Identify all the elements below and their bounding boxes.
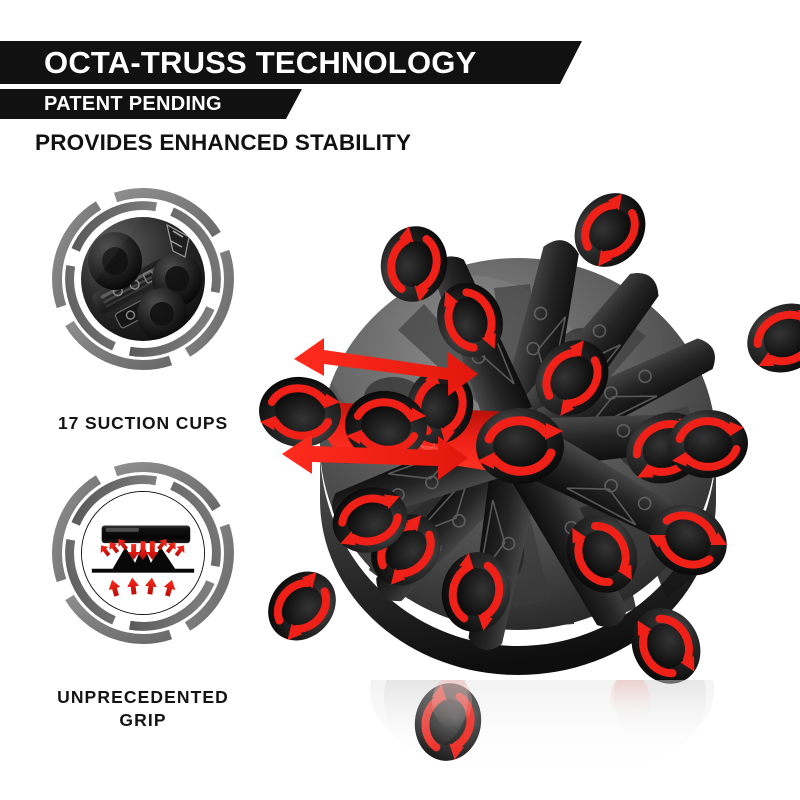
double-headed-arrow-icon — [294, 338, 478, 396]
suction-cup — [409, 678, 488, 766]
suction-cup-closeup-image — [81, 217, 205, 341]
feature-badge: 17 SUCTION CUPS — [18, 188, 268, 410]
feature-label-grip: UNPRECEDENTED GRIP — [18, 686, 268, 732]
suction-cup-closeup-art — [81, 217, 205, 341]
header-title-banner: OCTA-TRUSS TECHNOLOGY — [0, 41, 626, 84]
grip-diagram-image — [81, 491, 205, 615]
adjustment-motion-arrows — [280, 330, 520, 500]
page-title: OCTA-TRUSS TECHNOLOGY — [44, 45, 476, 81]
double-headed-arrow-icon — [282, 434, 468, 480]
suction-cup — [736, 291, 800, 385]
feature-badge: UNPRECEDENTED GRIP — [18, 462, 268, 684]
feature-suction-cups: 17 SUCTION CUPS — [18, 188, 268, 410]
suction-cup — [258, 558, 350, 654]
feature-label-line1: UNPRECEDENTED — [18, 686, 268, 709]
phone-slab — [102, 525, 191, 543]
feature-label-line2: GRIP — [18, 709, 268, 732]
feature-label-suction-cups: 17 SUCTION CUPS — [18, 412, 268, 435]
grip-diagram-art — [82, 492, 204, 614]
patent-pending-banner: PATENT PENDING — [0, 89, 346, 119]
patent-pending-label: PATENT PENDING — [44, 93, 222, 116]
feature-grip: UNPRECEDENTED GRIP — [18, 462, 268, 684]
marketing-image-canvas: OCTA-TRUSS TECHNOLOGY PATENT PENDING PRO… — [0, 0, 800, 800]
